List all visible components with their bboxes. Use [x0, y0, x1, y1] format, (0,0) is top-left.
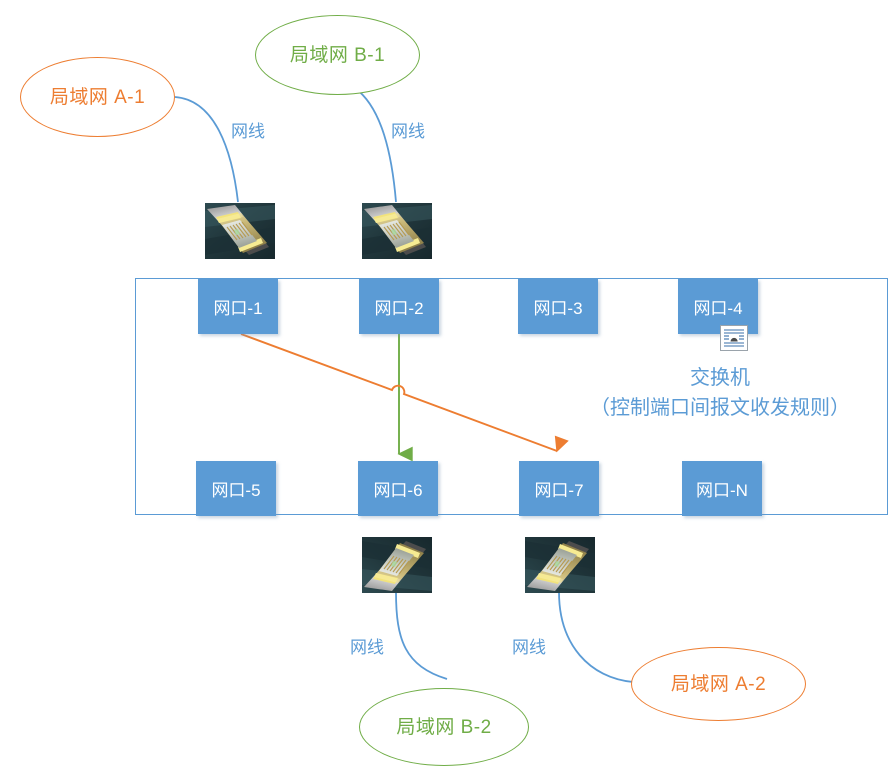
port-box-1[interactable]: 网口-1 — [198, 279, 278, 334]
cable-label-top-left: 网线 — [231, 117, 265, 142]
cable-curve-b1 — [355, 88, 396, 202]
port-label: 网口-3 — [533, 294, 582, 319]
port-label: 网口-7 — [534, 476, 583, 501]
cable-curve-a1 — [175, 97, 238, 202]
cable-label-top-right: 网线 — [391, 117, 425, 142]
port-box-5[interactable]: 网口-5 — [196, 461, 276, 516]
lan-cloud-label: 局域网 B-2 — [396, 718, 491, 737]
rj45-connector-bottom-2 — [525, 537, 595, 593]
lan-cloud-b1[interactable]: 局域网 B-1 — [255, 15, 420, 95]
port-box-n[interactable]: 网口-N — [682, 461, 762, 516]
cable-curve-a2 — [559, 592, 633, 682]
switch-caption: 交换机 （控制端口间报文收发规则） — [555, 363, 885, 423]
lan-cloud-a2[interactable]: 局域网 A-2 — [631, 647, 806, 721]
cable-label-bottom-right: 网线 — [512, 633, 546, 658]
port-box-2[interactable]: 网口-2 — [359, 279, 439, 334]
port-label: 网口-5 — [211, 476, 260, 501]
lan-cloud-label: 局域网 A-1 — [50, 88, 145, 107]
lan-cloud-b2[interactable]: 局域网 B-2 — [359, 688, 529, 766]
network-switch-diagram: 交换机 （控制端口间报文收发规则） 网口-1 网口-2 网口-3 网口-4 — [0, 0, 894, 783]
rj45-connector-bottom-1 — [362, 537, 432, 593]
cable-label-bottom-left: 网线 — [350, 633, 384, 658]
switch-title: 交换机 — [555, 363, 885, 393]
lan-cloud-a1[interactable]: 局域网 A-1 — [20, 57, 175, 137]
port-label: 网口-4 — [693, 294, 742, 319]
cable-curve-b2 — [396, 592, 447, 679]
port-label: 网口-2 — [374, 294, 423, 319]
port-box-3[interactable]: 网口-3 — [518, 279, 598, 334]
lan-cloud-label: 局域网 B-1 — [290, 46, 385, 65]
port-box-6[interactable]: 网口-6 — [358, 461, 438, 516]
port-label: 网口-N — [696, 476, 748, 501]
document-placeholder-icon — [720, 325, 748, 351]
lan-cloud-label: 局域网 A-2 — [671, 675, 766, 694]
switch-subtitle: （控制端口间报文收发规则） — [555, 393, 885, 423]
port-box-7[interactable]: 网口-7 — [519, 461, 599, 516]
port-label: 网口-1 — [213, 294, 262, 319]
rj45-connector-top-2 — [362, 203, 432, 259]
rj45-connector-top-1 — [205, 203, 275, 259]
port-label: 网口-6 — [373, 476, 422, 501]
